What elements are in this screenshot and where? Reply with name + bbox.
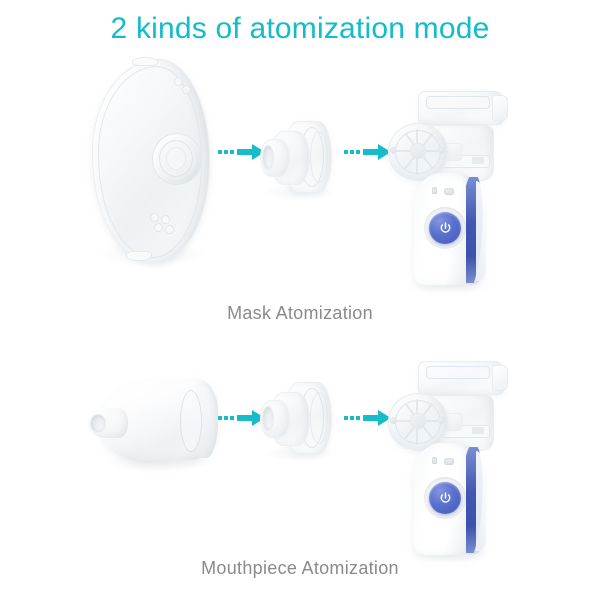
device-body-edge-highlight [476, 181, 486, 281]
arrow-dash [224, 416, 228, 420]
mask-flow-diagram [0, 55, 600, 285]
caption-mouthpiece-atomization: Mouthpiece Atomization [0, 558, 600, 579]
mask-nose-port-core [166, 147, 186, 170]
adapter-bore [262, 145, 274, 170]
arrow-dash [344, 416, 348, 420]
device-indicator-led [432, 457, 437, 464]
adapter-ring-inner [310, 131, 328, 183]
connector-adapter-illustration [258, 378, 336, 458]
face-mask-illustration [88, 55, 218, 270]
device-lid-inner [426, 366, 490, 379]
mouthpiece-ring [180, 390, 202, 452]
power-icon [438, 491, 453, 506]
device-indicator-led [432, 187, 437, 194]
device-reservoir-marking [472, 157, 484, 164]
mask-vent-hole [150, 213, 159, 222]
device-mesh-stud [438, 417, 445, 424]
power-button[interactable] [429, 482, 461, 514]
device-mesh-hub [410, 143, 426, 159]
arrow-dash [350, 150, 354, 154]
device-mesh-hub [410, 413, 426, 429]
connector-adapter-illustration [258, 117, 336, 197]
device-body-edge-highlight [476, 451, 486, 551]
section-mask-atomization: Mask Atomization [0, 55, 600, 330]
device-mesh-stud [390, 417, 397, 424]
device-lid-tab [492, 365, 508, 391]
arrow-dash [356, 416, 360, 420]
arrow-dash [230, 416, 234, 420]
caption-mask-atomization: Mask Atomization [0, 303, 600, 324]
arrow-dash [218, 416, 222, 420]
flow-arrow-right [344, 408, 392, 428]
device-battery-indicator [444, 188, 454, 195]
device-lid-tab [492, 95, 508, 121]
mouthpiece-bore [90, 414, 106, 433]
device-mesh-stud [390, 147, 397, 154]
power-button[interactable] [429, 212, 461, 244]
power-icon [438, 221, 453, 236]
mask-strap-bottom [126, 251, 152, 261]
mask-strap-top [132, 57, 158, 66]
arrow-dash [344, 150, 348, 154]
device-mesh-stud [438, 147, 445, 154]
mouthpiece-illustration [82, 368, 222, 473]
nebulizer-device-illustration [388, 85, 513, 285]
mask-vent-hole [161, 215, 170, 224]
mask-vent-hole [165, 225, 174, 234]
arrow-dash [350, 416, 354, 420]
mask-vent-hole [182, 85, 191, 94]
page-title: 2 kinds of atomization mode [0, 12, 600, 46]
device-reservoir-marking [472, 427, 484, 434]
arrow-dash [218, 150, 222, 154]
arrow-dash [356, 150, 360, 154]
adapter-ring-inner [310, 392, 328, 444]
device-lid-inner [426, 96, 490, 109]
mouthpiece-flow-diagram [0, 340, 600, 570]
adapter-bore [262, 406, 274, 431]
nebulizer-device-illustration [388, 355, 513, 555]
mask-vent-hole [154, 223, 163, 232]
section-mouthpiece-atomization: Mouthpiece Atomization [0, 340, 600, 590]
device-battery-indicator [444, 458, 454, 465]
product-infographic: 2 kinds of atomization mode [0, 0, 600, 600]
mask-vent-hole [174, 77, 183, 86]
arrow-dash [224, 150, 228, 154]
flow-arrow-right [344, 142, 392, 162]
arrow-dash [230, 150, 234, 154]
